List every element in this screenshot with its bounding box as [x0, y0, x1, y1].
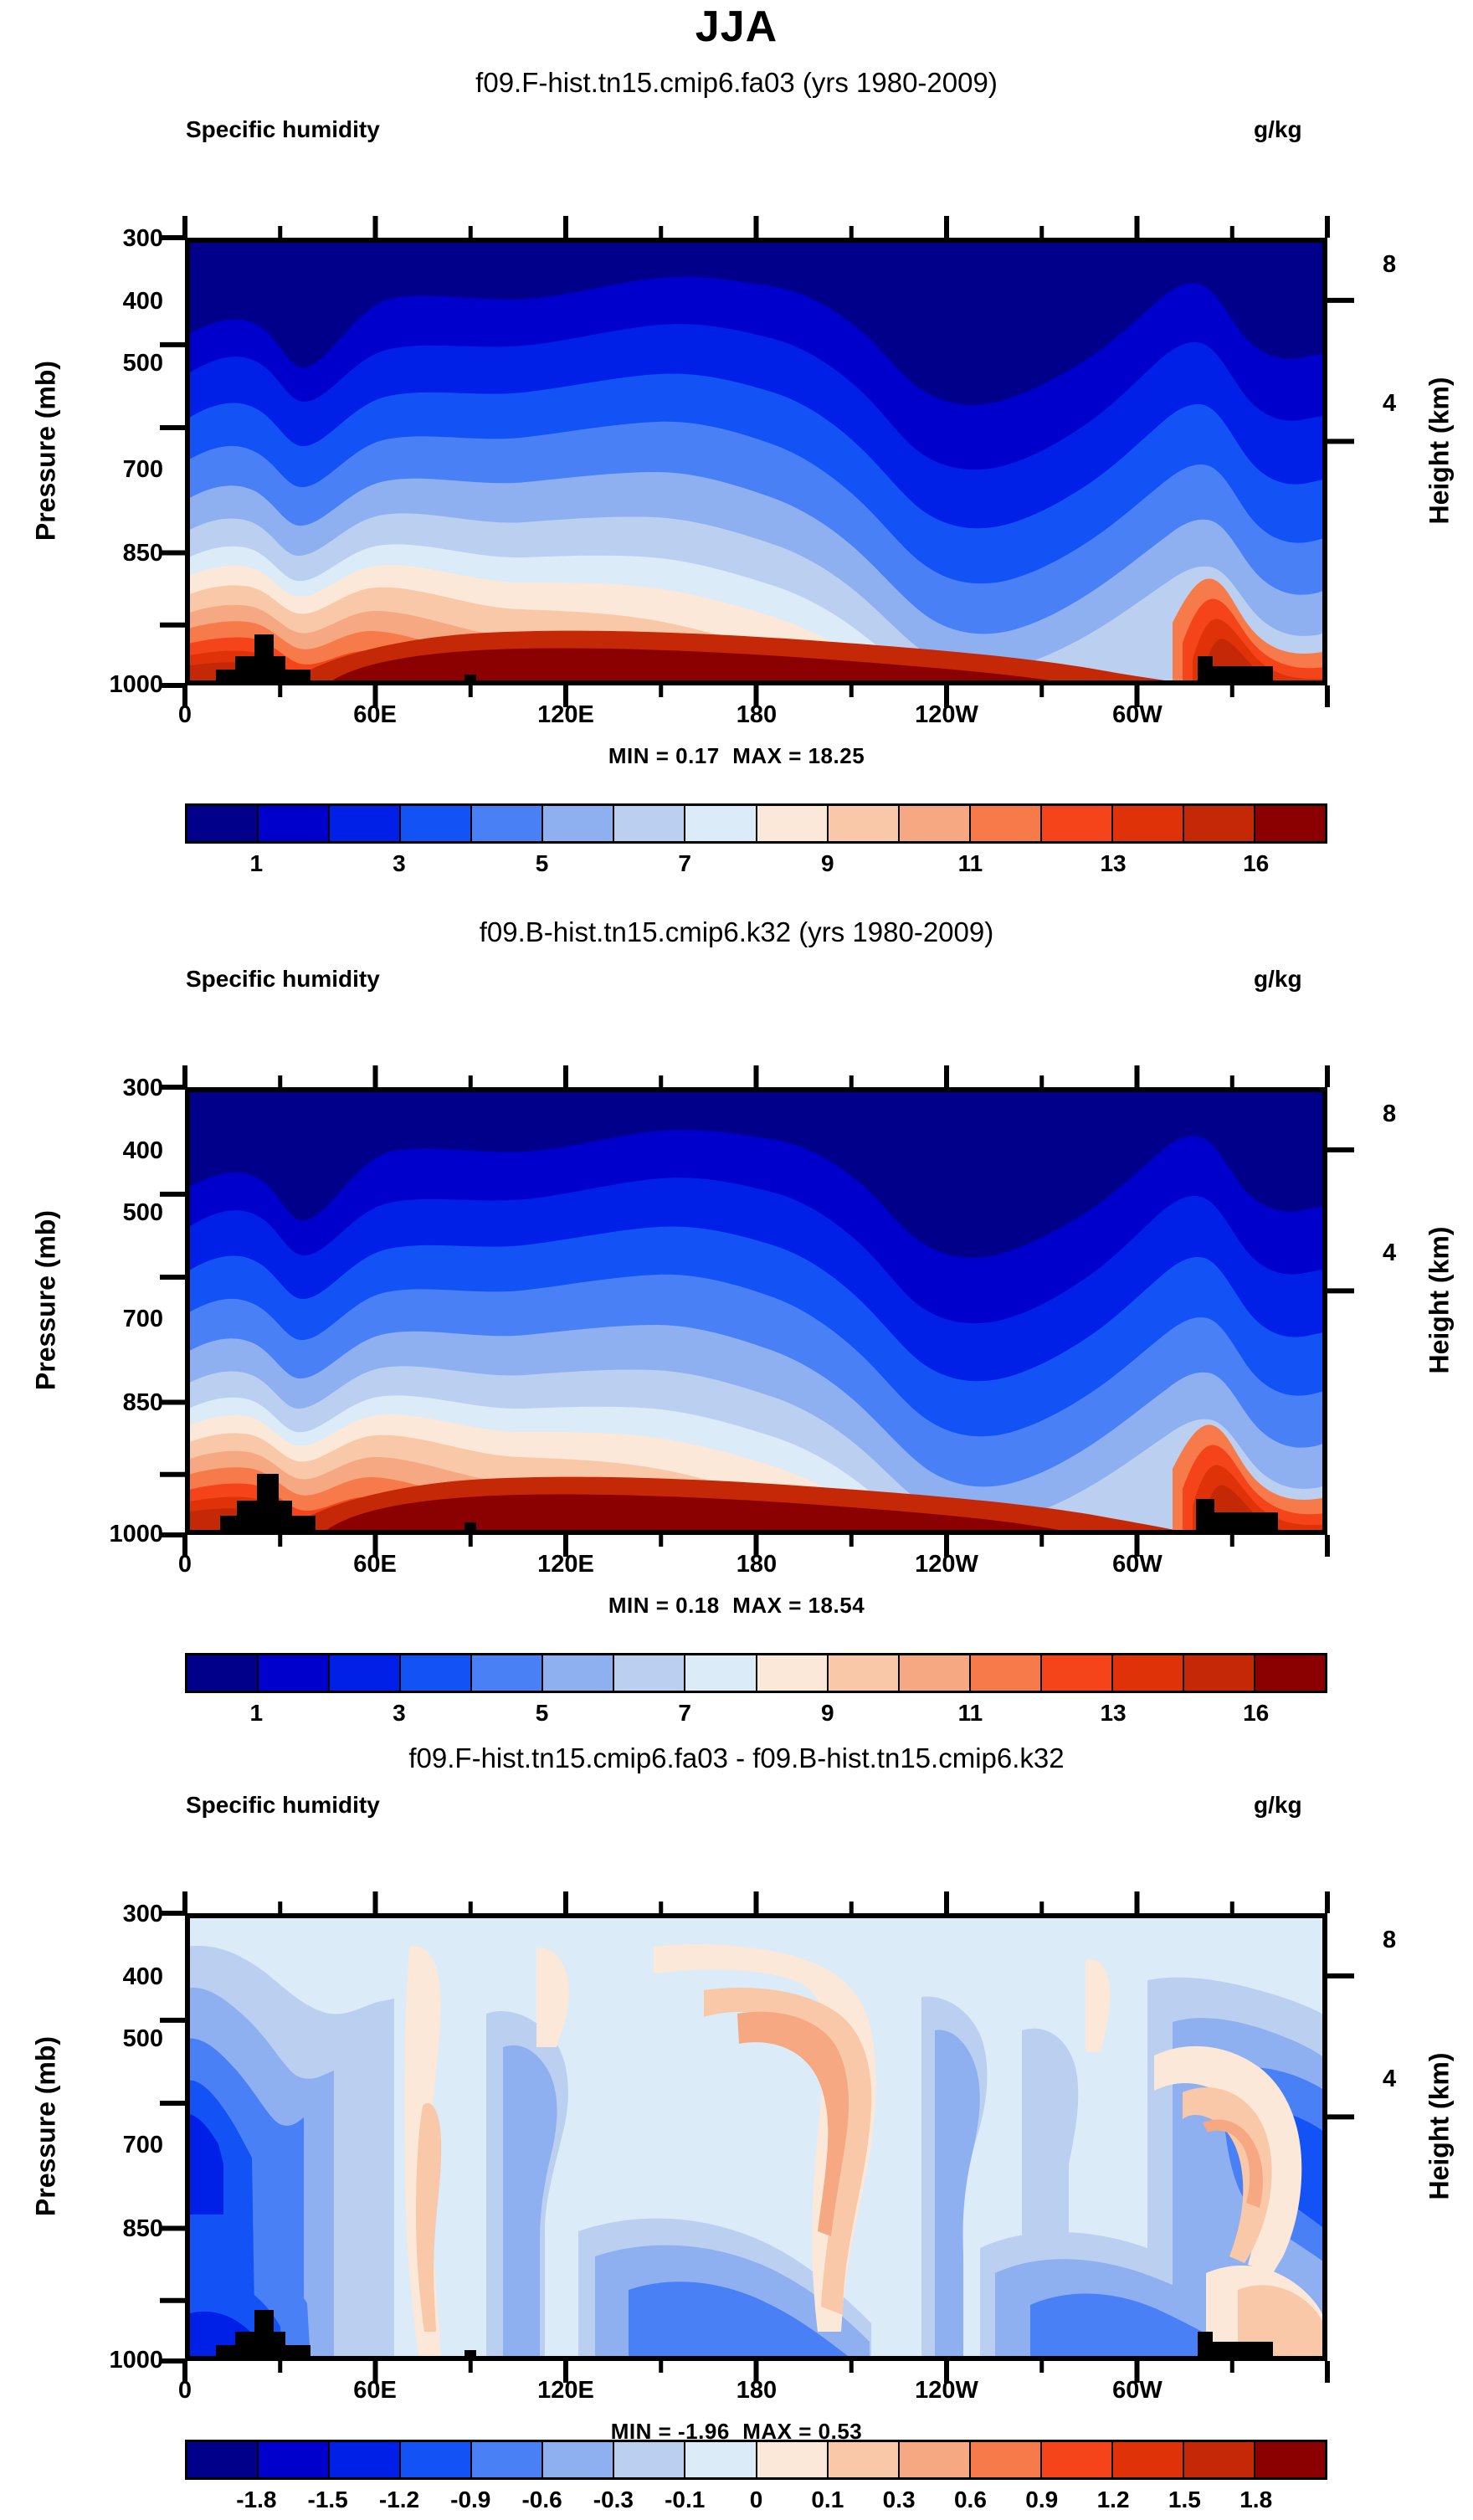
panel-3-ylabel-right: Height (km): [1424, 1993, 1455, 2261]
colorbar-cell: [829, 1655, 900, 1691]
panel-1-xtick-120E: 120E: [499, 701, 633, 729]
colorbar-tick-label: 0: [750, 2487, 763, 2513]
panel-1-units: g/kg: [1254, 116, 1302, 143]
panel-2-colorbar-cells: [185, 1653, 1327, 1693]
panel-3-plot: [185, 1913, 1327, 2361]
panel-1-xtick-60W: 60W: [1070, 701, 1204, 729]
colorbar-cell: [829, 806, 900, 841]
colorbar-cell: [1042, 1655, 1113, 1691]
panel-3-ytick-400: 400: [80, 1963, 163, 1991]
colorbar-cell: [543, 1655, 614, 1691]
panel-3-xtick-180: 180: [690, 2377, 824, 2405]
colorbar-cell: [1184, 806, 1255, 841]
panel-3-colorbar-cells: [185, 2440, 1327, 2480]
panel-3: f09.F-hist.tn15.cmip6.fa03 - f09.B-hist.…: [0, 1699, 1473, 2490]
panel-3-title: f09.F-hist.tn15.cmip6.fa03 - f09.B-hist.…: [0, 1742, 1473, 1774]
panel-1-title: f09.F-hist.tn15.cmip6.fa03 (yrs 1980-200…: [0, 67, 1473, 99]
colorbar-cell: [685, 1655, 757, 1691]
colorbar-cell: [472, 806, 543, 841]
panel-1-xtick-180: 180: [690, 701, 824, 729]
panel-3-xtick-120W: 120W: [880, 2377, 1014, 2405]
panel-2-ytick-500: 500: [80, 1199, 163, 1227]
panel-3-var-label: Specific humidity: [186, 1792, 380, 1819]
colorbar-cell: [1042, 806, 1113, 841]
colorbar-tick-label: 0.3: [883, 2487, 916, 2513]
panel-2-ytick-400: 400: [80, 1137, 163, 1165]
panel-3-colorbar-labels: -1.8-1.5-1.2-0.9-0.6-0.3-0.100.10.30.60.…: [185, 2487, 1327, 2520]
panel-2-xtick-60E: 60E: [308, 1551, 442, 1578]
colorbar-tick-label: 1.2: [1097, 2487, 1130, 2513]
panel-2-ytick-300: 300: [80, 1075, 163, 1102]
colorbar-cell: [614, 1655, 685, 1691]
colorbar-cell: [401, 806, 472, 841]
panel-1-minmax: MIN = 0.17 MAX = 18.25: [0, 743, 1473, 769]
colorbar-cell: [259, 2442, 330, 2477]
panel-1-plot: [185, 238, 1327, 685]
colorbar-cell: [330, 806, 401, 841]
colorbar-cell: [1255, 2442, 1325, 2477]
colorbar-cell: [1184, 1655, 1255, 1691]
panel-3-xtick-0: 0: [118, 2377, 252, 2405]
panel-3-ytick-850: 850: [80, 2215, 163, 2243]
panel-3-ytick-300: 300: [80, 1901, 163, 1928]
colorbar-cell: [1255, 806, 1325, 841]
panel-2-xtick-60W: 60W: [1070, 1551, 1204, 1578]
figure-page: JJA f09.F-hist.tn15.cmip6.fa03 (yrs 1980…: [0, 0, 1473, 2490]
panel-3-units: g/kg: [1254, 1792, 1302, 1819]
colorbar-cell: [259, 806, 330, 841]
panel-1-ytick-right-8: 8: [1383, 251, 1441, 279]
panel-2-ytick-700: 700: [80, 1306, 163, 1333]
colorbar-cell: [1184, 2442, 1255, 2477]
colorbar-cell: [543, 2442, 614, 2477]
panel-3-ytick-right-8: 8: [1383, 1927, 1441, 1954]
colorbar-cell: [259, 1655, 330, 1691]
colorbar-cell: [472, 2442, 543, 2477]
panel-1-ylabel: Pressure (mb): [31, 317, 62, 585]
panel-1-colorbar-cells: [185, 803, 1327, 844]
panel-1-ylabel-right: Height (km): [1424, 317, 1455, 585]
colorbar-cell: [971, 806, 1042, 841]
colorbar-cell: [971, 1655, 1042, 1691]
colorbar-tick-label: 0.1: [811, 2487, 844, 2513]
panel-1-xtick-60E: 60E: [308, 701, 442, 729]
colorbar-tick-label: 1.5: [1168, 2487, 1201, 2513]
colorbar-cell: [900, 2442, 971, 2477]
panel-3-ylabel: Pressure (mb): [31, 1993, 62, 2261]
panel-1-ytick-1000: 1000: [80, 671, 163, 699]
colorbar-cell: [900, 806, 971, 841]
colorbar-cell: [401, 2442, 472, 2477]
panel-2-ytick-850: 850: [80, 1389, 163, 1417]
colorbar-cell: [829, 2442, 900, 2477]
panel-1-var-label: Specific humidity: [186, 116, 380, 143]
colorbar-tick-label: -0.1: [665, 2487, 705, 2513]
panel-1-ytick-300: 300: [80, 225, 163, 253]
colorbar-tick-label: -0.3: [593, 2487, 634, 2513]
panel-3-ytick-700: 700: [80, 2132, 163, 2159]
panel-2-units: g/kg: [1254, 966, 1302, 993]
panel-2-title: f09.B-hist.tn15.cmip6.k32 (yrs 1980-2009…: [0, 916, 1473, 948]
colorbar-cell: [472, 1655, 543, 1691]
colorbar-cell: [757, 1655, 829, 1691]
colorbar-cell: [614, 2442, 685, 2477]
colorbar-cell: [971, 2442, 1042, 2477]
panel-3-ytick-1000: 1000: [80, 2347, 163, 2374]
panel-2-ytick-right-8: 8: [1383, 1101, 1441, 1128]
panel-2-xtick-120W: 120W: [880, 1551, 1014, 1578]
colorbar-tick-label: -1.5: [308, 2487, 348, 2513]
colorbar-cell: [1042, 2442, 1113, 2477]
panel-1: f09.F-hist.tn15.cmip6.fa03 (yrs 1980-200…: [0, 0, 1473, 862]
colorbar-cell: [543, 806, 614, 841]
colorbar-cell: [614, 806, 685, 841]
panel-3-colorbar: -1.8-1.5-1.2-0.9-0.6-0.3-0.100.10.30.60.…: [185, 2440, 1327, 2520]
colorbar-cell: [757, 2442, 829, 2477]
colorbar-tick-label: 0.9: [1025, 2487, 1058, 2513]
panel-1-ytick-400: 400: [80, 288, 163, 316]
panel-1-max: MAX = 18.25: [732, 743, 865, 768]
colorbar-tick-label: -1.8: [236, 2487, 276, 2513]
colorbar-tick-label: -1.2: [379, 2487, 419, 2513]
panel-1-ytick-700: 700: [80, 456, 163, 484]
colorbar-cell: [1113, 806, 1184, 841]
panel-2-var-label: Specific humidity: [186, 966, 380, 993]
panel-2-minmax: MIN = 0.18 MAX = 18.54: [0, 1593, 1473, 1619]
colorbar-tick-label: -0.6: [521, 2487, 562, 2513]
colorbar-tick-label: -0.9: [450, 2487, 490, 2513]
colorbar-cell: [1113, 2442, 1184, 2477]
panel-2-min: MIN = 0.18: [608, 1593, 720, 1618]
panel-2-xtick-120E: 120E: [499, 1551, 633, 1578]
panel-3-xtick-60W: 60W: [1070, 2377, 1204, 2405]
panel-1-ytick-right-4: 4: [1383, 390, 1441, 418]
panel-2-ylabel: Pressure (mb): [31, 1167, 62, 1435]
panel-2-xtick-0: 0: [118, 1551, 252, 1578]
colorbar-cell: [401, 1655, 472, 1691]
colorbar-cell: [1255, 1655, 1325, 1691]
panel-2-ytick-right-4: 4: [1383, 1239, 1441, 1267]
panel-3-ytick-right-4: 4: [1383, 2066, 1441, 2093]
panel-1-ytick-850: 850: [80, 540, 163, 567]
panel-1-min: MIN = 0.17: [608, 743, 720, 768]
panel-2-ytick-1000: 1000: [80, 1521, 163, 1548]
panel-2-plot: [185, 1087, 1327, 1535]
colorbar-cell: [1113, 1655, 1184, 1691]
colorbar-cell: [187, 806, 259, 841]
panel-1-xtick-0: 0: [118, 701, 252, 729]
panel-2-xtick-180: 180: [690, 1551, 824, 1578]
panel-2: f09.B-hist.tn15.cmip6.k32 (yrs 1980-2009…: [0, 849, 1473, 1712]
colorbar-tick-label: 0.6: [954, 2487, 987, 2513]
colorbar-cell: [757, 806, 829, 841]
panel-3-ytick-500: 500: [80, 2025, 163, 2053]
colorbar-cell: [330, 2442, 401, 2477]
colorbar-cell: [330, 1655, 401, 1691]
colorbar-cell: [187, 1655, 259, 1691]
panel-1-ytick-500: 500: [80, 350, 163, 377]
colorbar-cell: [685, 2442, 757, 2477]
colorbar-cell: [685, 806, 757, 841]
panel-1-xtick-120W: 120W: [880, 701, 1014, 729]
panel-3-xtick-60E: 60E: [308, 2377, 442, 2405]
panel-2-max: MAX = 18.54: [732, 1593, 865, 1618]
colorbar-cell: [187, 2442, 259, 2477]
colorbar-cell: [900, 1655, 971, 1691]
panel-3-xtick-120E: 120E: [499, 2377, 633, 2405]
colorbar-tick-label: 1.8: [1239, 2487, 1272, 2513]
panel-2-ylabel-right: Height (km): [1424, 1167, 1455, 1435]
